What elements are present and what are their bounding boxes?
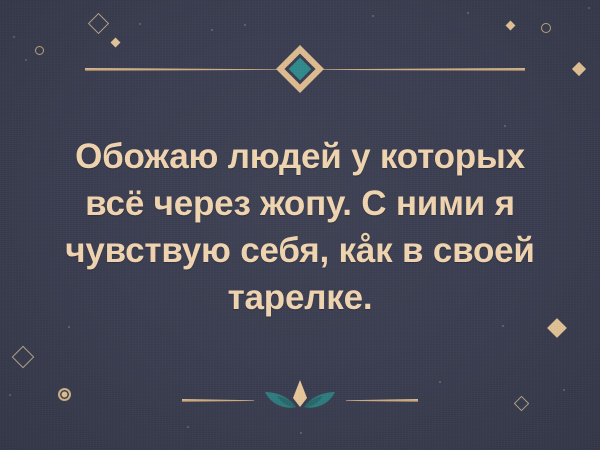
divider-rule-top-right [321, 68, 525, 71]
speck-icon [439, 381, 441, 383]
speck-icon [187, 426, 189, 428]
diamond-outline-icon [12, 346, 35, 369]
circle-solid-icon [58, 388, 71, 401]
diamond-solid-icon [110, 37, 120, 47]
lotus-ornament-icon [257, 378, 343, 414]
quote-line: чувствую себя, кåк в своей [16, 227, 584, 274]
diamond-outline-icon [87, 12, 108, 33]
speck-icon [504, 125, 506, 127]
speck-icon [9, 394, 11, 396]
diamond-solid-icon [505, 20, 515, 30]
circle-outline-icon [541, 23, 551, 33]
speck-icon [211, 29, 213, 31]
speck-icon [68, 326, 70, 328]
speck-icon [502, 325, 504, 327]
speck-icon [467, 12, 469, 14]
diamond-outline-icon [513, 395, 529, 411]
speck-icon [588, 7, 590, 9]
diamond-ornament-icon [283, 52, 317, 86]
speck-icon [300, 432, 302, 434]
speck-icon [563, 389, 565, 391]
diamond-solid-icon [547, 318, 567, 338]
speck-icon [25, 59, 27, 61]
divider-rule-bottom-right [346, 399, 418, 402]
quote-line: всё через жопу. С ними я [16, 180, 584, 227]
quote-line: тарелке. [16, 274, 584, 321]
quote-card: Обожаю людей у которых всё через жопу. С… [0, 0, 600, 450]
speck-icon [139, 23, 141, 25]
speck-icon [372, 15, 374, 17]
diamond-solid-icon [572, 62, 586, 76]
quote-text: Обожаю людей у которых всё через жопу. С… [0, 133, 600, 321]
quote-line: Обожаю людей у которых [16, 133, 584, 180]
divider-rule-top-left [85, 68, 279, 71]
speck-icon [13, 36, 15, 38]
speck-icon [244, 24, 246, 26]
circle-outline-icon [35, 46, 44, 55]
divider-rule-bottom-left [182, 399, 254, 402]
